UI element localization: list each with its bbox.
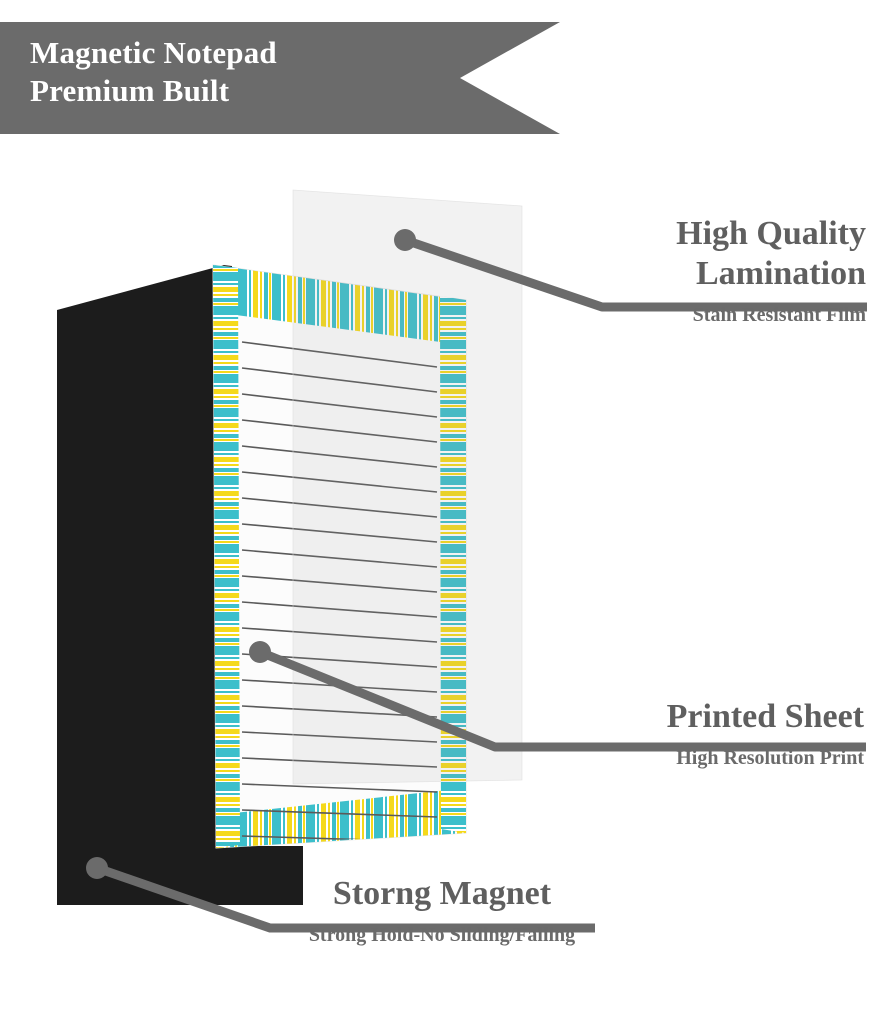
callout-printed-sheet-subtitle: High Resolution Print xyxy=(464,746,864,770)
infographic-canvas: Magnetic Notepad Premium Built xyxy=(0,0,886,1024)
product-illustration xyxy=(0,0,886,1024)
callout-lamination: High Quality Lamination Stain Resistant … xyxy=(446,214,866,327)
callout-lamination-title: High Quality Lamination xyxy=(446,214,866,294)
callout-printed-sheet: Printed Sheet High Resolution Print xyxy=(464,697,864,770)
leader-dot-icon xyxy=(86,857,108,879)
callout-magnet-title: Storng Magnet xyxy=(232,874,652,914)
callout-lamination-subtitle: Stain Resistant Film xyxy=(446,303,866,327)
leader-dot-icon xyxy=(394,229,416,251)
callout-magnet-subtitle: Strong Hold-No Sliding/Falling xyxy=(232,923,652,947)
callout-magnet: Storng Magnet Strong Hold-No Sliding/Fal… xyxy=(232,874,652,947)
callout-printed-sheet-title: Printed Sheet xyxy=(464,697,864,737)
leader-dot-icon xyxy=(249,641,271,663)
